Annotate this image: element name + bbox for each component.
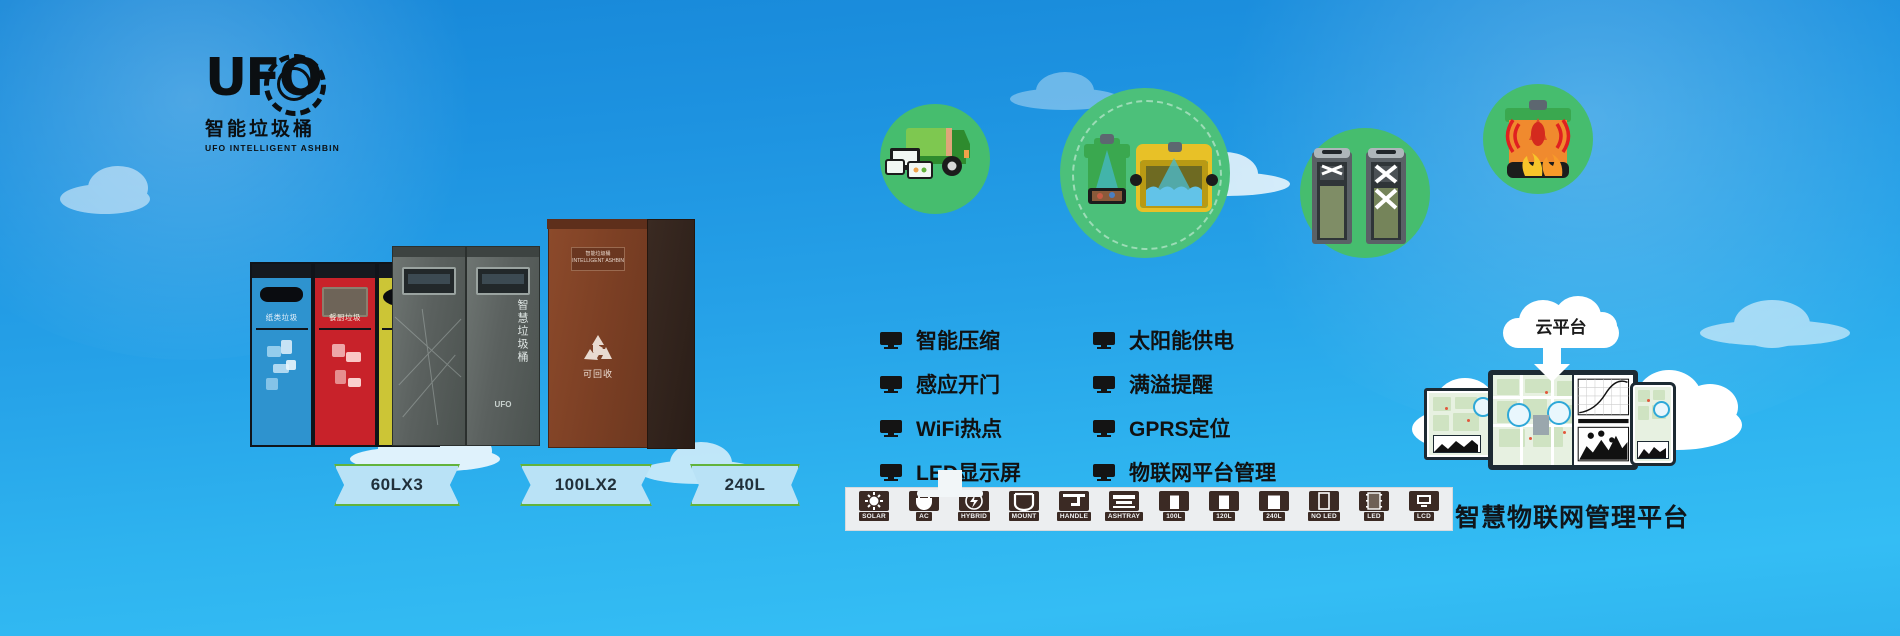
smart-bin-unit: 智慧垃圾桶 UFO [466, 246, 540, 446]
ashtray-icon [1109, 491, 1139, 511]
spec-icon-handle: HANDLE [1052, 491, 1096, 527]
feature-label: 满溢提醒 [1129, 369, 1213, 399]
feature-item: 太阳能供电 [1093, 325, 1276, 355]
bin-120l-icon [1209, 491, 1239, 511]
bin-side-label: 可回收 [549, 367, 647, 380]
feature-label: 太阳能供电 [1129, 325, 1234, 355]
desktop-monitor-icon [1488, 370, 1638, 470]
spec-icon-120l: 120L [1202, 491, 1246, 527]
spec-icon-label: LED [1364, 512, 1384, 521]
spec-icon-label: NO LED [1308, 512, 1340, 521]
spec-icon-label: SOLAR [859, 512, 889, 521]
bin-lid [547, 219, 649, 229]
handle-icon [1059, 491, 1089, 511]
capacity-label-60lx3: 60LX3 [334, 464, 460, 506]
spec-icon-label: 240L [1263, 512, 1285, 521]
lcd-icon [1409, 491, 1439, 511]
feature-circle-fleet-monitoring [880, 104, 990, 214]
feature-item: 满溢提醒 [1093, 369, 1276, 399]
product-twin-smart-bin: 智慧垃圾桶 UFO [392, 246, 540, 446]
bin-lid [393, 247, 465, 257]
bin-compartment-kitchen: 餐厨垃圾 [313, 262, 376, 447]
spec-icon-label: ASHTRAY [1105, 512, 1143, 521]
monitor-screen [1493, 375, 1633, 465]
bin-face: 餐厨垃圾 [315, 278, 374, 445]
map-dashboard-view [1493, 375, 1572, 465]
platform-title: 智慧物联网管理平台 [1455, 498, 1689, 534]
phone-map-view [1635, 387, 1671, 461]
garbage-truck-icon [880, 104, 990, 214]
feature-circle-fire-alarm [1483, 84, 1593, 194]
spec-icon-lcd: LCD [1402, 491, 1446, 527]
feature-label: LED显示屏 [916, 457, 1021, 487]
spec-icon-label: HYBRID [958, 512, 990, 521]
smart-bin-unit [392, 246, 466, 446]
chart-dashboard-view [1572, 375, 1633, 465]
feature-item: 物联网平台管理 [1093, 457, 1276, 487]
feature-item: WiFi热点 [880, 413, 1021, 443]
spec-icon-label: HANDLE [1057, 512, 1091, 521]
bin-texture-pattern [393, 307, 465, 427]
monitor-icon [1093, 420, 1115, 437]
monitor-icon [880, 332, 902, 349]
bin-lid [252, 264, 311, 278]
cloud-platform-badge: 云平台 [1503, 296, 1619, 348]
brand-logo: UFO 智能垃圾桶 UFO INTELLIGENT ASHBIN [205, 52, 325, 147]
product-brown-recycle-bin: 智能垃圾桶 INTELLIGENT ASHBIN 可回收 [548, 224, 648, 448]
bin-display-screen [476, 267, 529, 295]
feature-circle-compaction-compare [1300, 128, 1430, 258]
wall-mount-icon [1009, 491, 1039, 511]
sensor-dashed-ring [1072, 100, 1222, 250]
solar-panel-icon [859, 491, 889, 511]
bin-240l-icon [1259, 491, 1289, 511]
spec-icon-label: 100L [1163, 512, 1185, 521]
monitor-icon [880, 464, 902, 481]
feature-label: GPRS定位 [1129, 413, 1231, 443]
logo-chinese-name: 智能垃圾桶 [205, 114, 325, 141]
spec-icon-label: MOUNT [1009, 512, 1040, 521]
bin-graphic-panel [319, 328, 371, 439]
spec-icon-solar: SOLAR [852, 491, 896, 527]
spec-icon-led: LED [1352, 491, 1396, 527]
fire-alarm-bin-icon [1483, 84, 1593, 194]
banner-stage: UFO 智能垃圾桶 UFO INTELLIGENT ASHBIN 纸类垃圾 [0, 0, 1900, 636]
feature-column-left: 智能压缩 感应开门 WiFi热点 LED显示屏 [880, 325, 1021, 487]
bin-display-screen [402, 267, 455, 295]
logo-english-name: UFO INTELLIGENT ASHBIN [205, 143, 325, 153]
spec-icon-no-led: NO LED [1302, 491, 1346, 527]
feature-label: WiFi热点 [916, 413, 1002, 443]
bin-lid [467, 247, 539, 257]
monitor-icon [1093, 332, 1115, 349]
spec-icon-label: LCD [1414, 512, 1434, 521]
feature-circle-fill-level-sensing [1060, 88, 1230, 258]
recycle-icon [581, 333, 615, 363]
bin-lid [315, 264, 374, 278]
bin-display-screen: 智能垃圾桶 INTELLIGENT ASHBIN [571, 247, 626, 271]
spec-icon-label: AC [916, 512, 932, 521]
feature-item: 感应开门 [880, 369, 1021, 399]
monitor-icon [1093, 464, 1115, 481]
monitor-icon [880, 376, 902, 393]
capacity-label-240l: 240L [690, 464, 800, 506]
ufo-ring-icon [264, 54, 326, 116]
spec-icon-100l: 100L [1152, 491, 1196, 527]
feature-list: 智能压缩 感应开门 WiFi热点 LED显示屏 太阳能供电 满溢提醒 [880, 325, 1276, 487]
bin-graphic-panel [256, 328, 308, 439]
led-icon [1359, 491, 1389, 511]
bin-side-text: 智慧垃圾桶 [514, 299, 530, 364]
monitor-icon [1093, 376, 1115, 393]
bin-100l-icon [1159, 491, 1189, 511]
cloud-platform-label: 云平台 [1503, 313, 1619, 338]
slot-icon [260, 287, 303, 302]
feature-item: GPRS定位 [1093, 413, 1276, 443]
bin-brand-mark: UFO [495, 400, 512, 409]
spec-icon-240l: 240L [1252, 491, 1296, 527]
spec-icon-ashtray: ASHTRAY [1102, 491, 1146, 527]
smartphone-icon [1630, 382, 1676, 466]
bin-compartment-label: 纸类垃圾 [252, 312, 311, 323]
feature-column-right: 太阳能供电 满溢提醒 GPRS定位 物联网平台管理 [1093, 325, 1276, 487]
bin-face: 纸类垃圾 [252, 278, 311, 445]
monitor-stand [938, 470, 962, 490]
compaction-bins-icon [1300, 128, 1430, 258]
bin-compartment-label: 餐厨垃圾 [315, 312, 374, 323]
feature-label: 物联网平台管理 [1129, 457, 1276, 487]
bin-compartment-paper: 纸类垃圾 [250, 262, 313, 447]
logo-mark: UFO [205, 52, 325, 112]
tablet-map-view [1429, 393, 1495, 455]
feature-label: 感应开门 [916, 369, 1000, 399]
capacity-label-100lx2: 100LX2 [520, 464, 652, 506]
spec-icon-label: 120L [1213, 512, 1235, 521]
bin-display-text: 智能垃圾桶 INTELLIGENT ASHBIN [572, 248, 625, 265]
feature-label: 智能压缩 [916, 325, 1000, 355]
feature-item: 智能压缩 [880, 325, 1021, 355]
bin-side-panel [647, 219, 695, 449]
monitor-base [917, 490, 983, 497]
monitor-icon [880, 420, 902, 437]
spec-icon-mount: MOUNT [1002, 491, 1046, 527]
no-led-icon [1309, 491, 1339, 511]
